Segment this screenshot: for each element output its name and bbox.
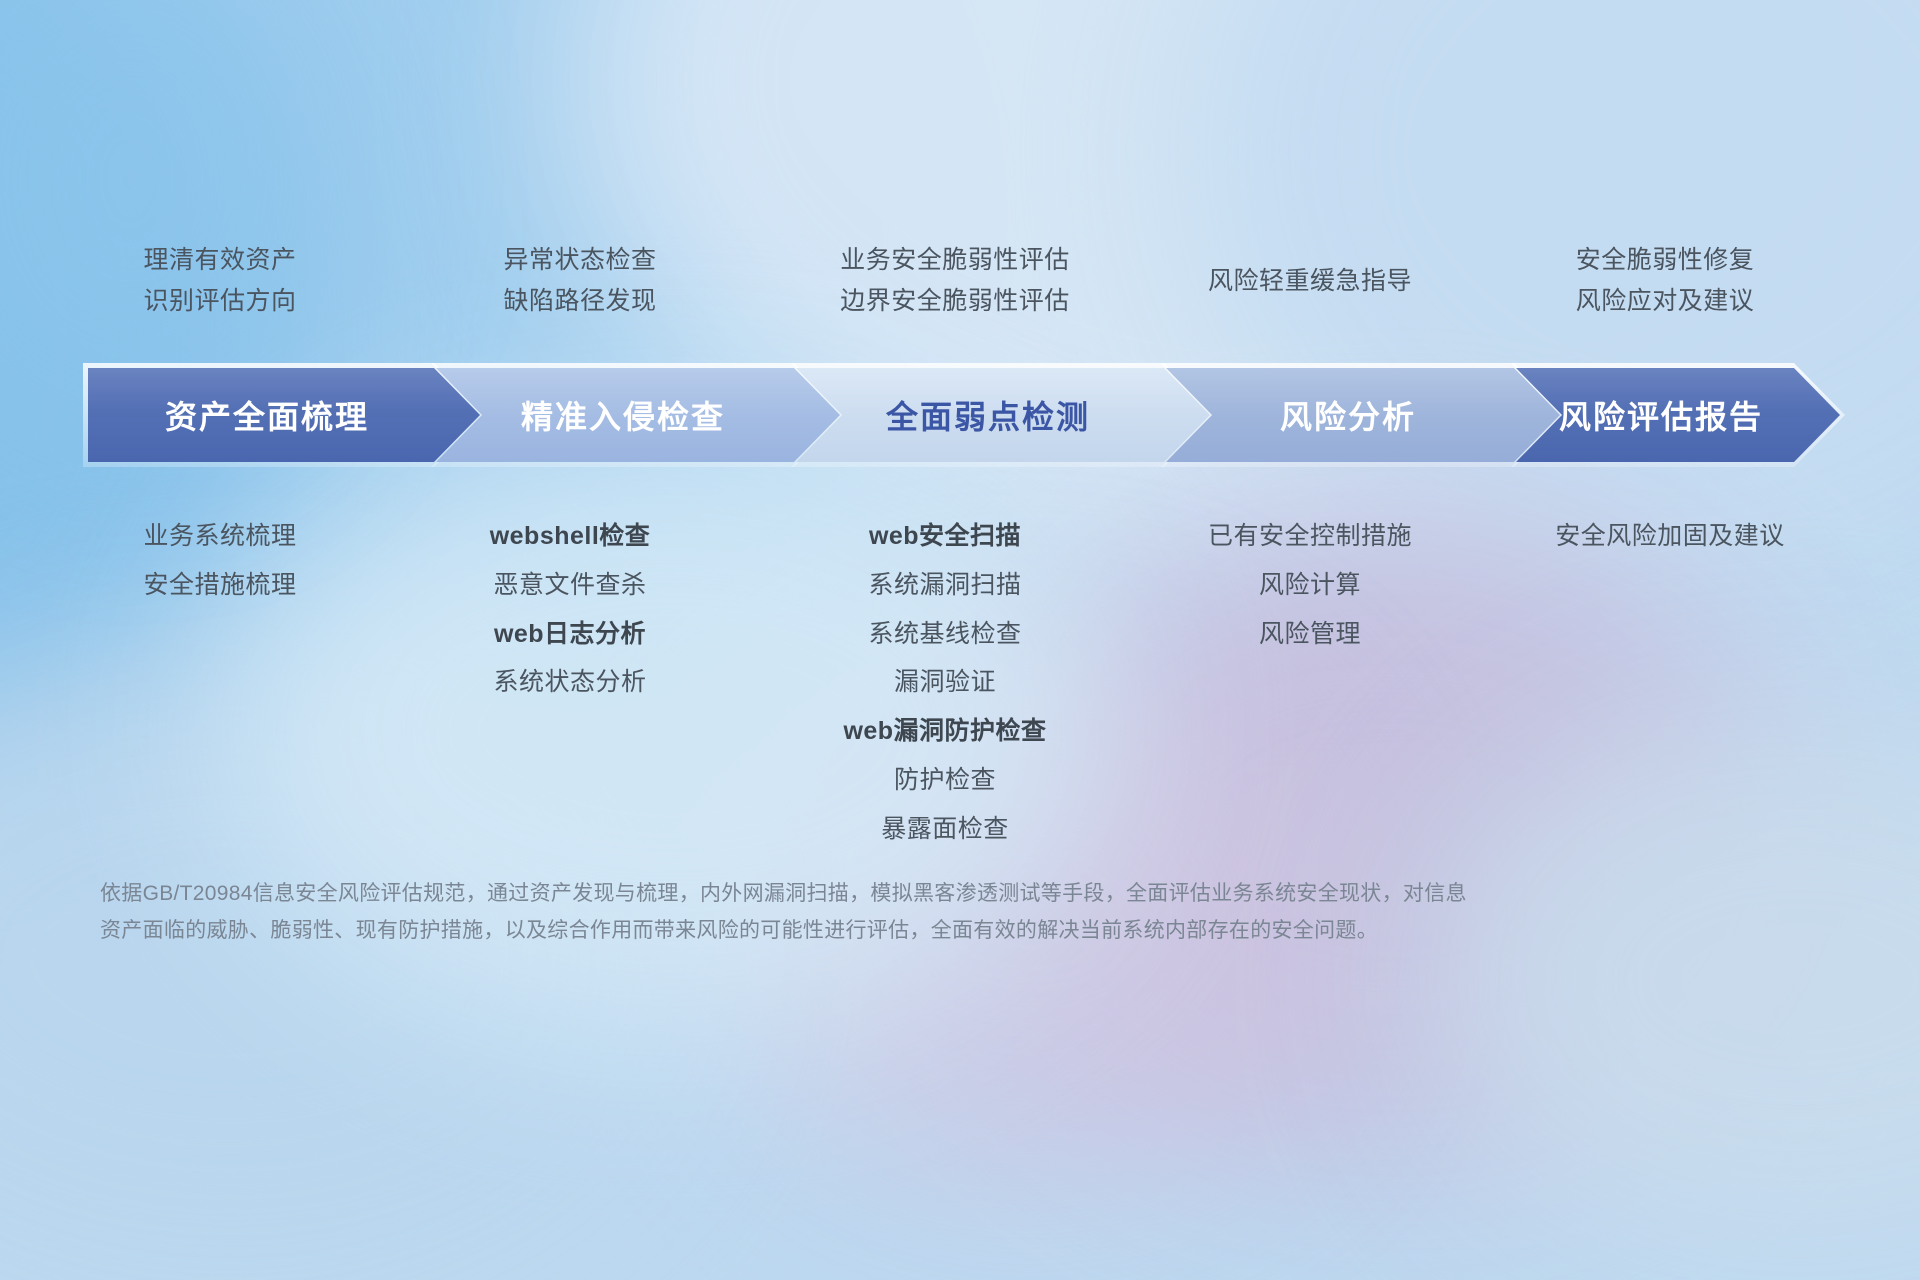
stage-above-line: 风险轻重缓急指导 (1145, 261, 1475, 302)
stage-title: 全面弱点检测 (796, 392, 1210, 438)
stage-chevron-intrusion-check[interactable]: 精准入侵检查 (436, 368, 840, 462)
footer-line-2: 资产面临的威胁、脆弱性、现有防护措施，以及综合作用而带来风险的可能性进行评估，全… (100, 913, 1740, 950)
stage-above-line: 缺陷路径发现 (420, 281, 740, 322)
stage-below-line: 风险计算 (1145, 561, 1475, 610)
stage-above-line: 安全脆弱性修复 (1500, 240, 1830, 281)
stage-below-group-2: webshell检查 恶意文件查杀 web日志分析 系统状态分析 (405, 512, 735, 707)
stage-below-group-5: 安全风险加固及建议 (1490, 512, 1850, 561)
stage-above-group-5: 安全脆弱性修复 风险应对及建议 (1500, 240, 1830, 321)
stage-below-line: 防护检查 (765, 756, 1125, 805)
stage-above-line: 边界安全脆弱性评估 (770, 281, 1140, 322)
stage-below-group-3: web安全扫描 系统漏洞扫描 系统基线检查 漏洞验证 web漏洞防护检查 防护检… (765, 512, 1125, 853)
process-chevron-band: 资产全面梳理 精准入侵检查 全面弱点检测 风险分析 风险评估报告 (88, 368, 1840, 462)
stage-above-line: 异常状态检查 (420, 240, 740, 281)
stage-below-group-4: 已有安全控制措施 风险计算 风险管理 (1145, 512, 1475, 658)
stage-above-line: 业务安全脆弱性评估 (770, 240, 1140, 281)
stage-below-line: web日志分析 (405, 610, 735, 659)
stage-chevron-weakness-detection[interactable]: 全面弱点检测 (796, 368, 1210, 462)
stage-below-line: 系统状态分析 (405, 658, 735, 707)
stage-chevron-asset-inventory[interactable]: 资产全面梳理 (88, 368, 480, 462)
stage-title: 风险分析 (1166, 392, 1560, 438)
stage-below-line: 风险管理 (1145, 610, 1475, 659)
stage-above-group-3: 业务安全脆弱性评估 边界安全脆弱性评估 (770, 240, 1140, 321)
stage-below-line: web安全扫描 (765, 512, 1125, 561)
stage-below-line: 漏洞验证 (765, 658, 1125, 707)
stage-chevron-assessment-report[interactable]: 风险评估报告 (1516, 368, 1840, 462)
stage-below-line: 系统漏洞扫描 (765, 561, 1125, 610)
stage-chevron-risk-analysis[interactable]: 风险分析 (1166, 368, 1560, 462)
stage-above-line: 识别评估方向 (60, 281, 380, 322)
stage-below-line: 恶意文件查杀 (405, 561, 735, 610)
stage-below-group-1: 业务系统梳理 安全措施梳理 (60, 512, 380, 610)
stage-above-line: 风险应对及建议 (1500, 281, 1830, 322)
stage-above-group-2: 异常状态检查 缺陷路径发现 (420, 240, 740, 321)
stage-title: 资产全面梳理 (88, 392, 480, 438)
stage-below-line: 暴露面检查 (765, 805, 1125, 854)
stage-title: 精准入侵检查 (436, 392, 840, 438)
footer-line-1: 依据GB/T20984信息安全风险评估规范，通过资产发现与梳理，内外网漏洞扫描，… (100, 876, 1740, 913)
stage-below-line: 安全措施梳理 (60, 561, 380, 610)
stage-below-line: 业务系统梳理 (60, 512, 380, 561)
stage-below-line: 安全风险加固及建议 (1490, 512, 1850, 561)
stage-below-line: webshell检查 (405, 512, 735, 561)
footer-description: 依据GB/T20984信息安全风险评估规范，通过资产发现与梳理，内外网漏洞扫描，… (100, 876, 1740, 950)
stage-below-line: web漏洞防护检查 (765, 707, 1125, 756)
stage-below-line: 已有安全控制措施 (1145, 512, 1475, 561)
stage-above-line: 理清有效资产 (60, 240, 380, 281)
stage-title: 风险评估报告 (1516, 392, 1840, 438)
stage-below-line: 系统基线检查 (765, 610, 1125, 659)
stage-above-group-4: 风险轻重缓急指导 (1145, 261, 1475, 302)
stage-above-group-1: 理清有效资产 识别评估方向 (60, 240, 380, 321)
